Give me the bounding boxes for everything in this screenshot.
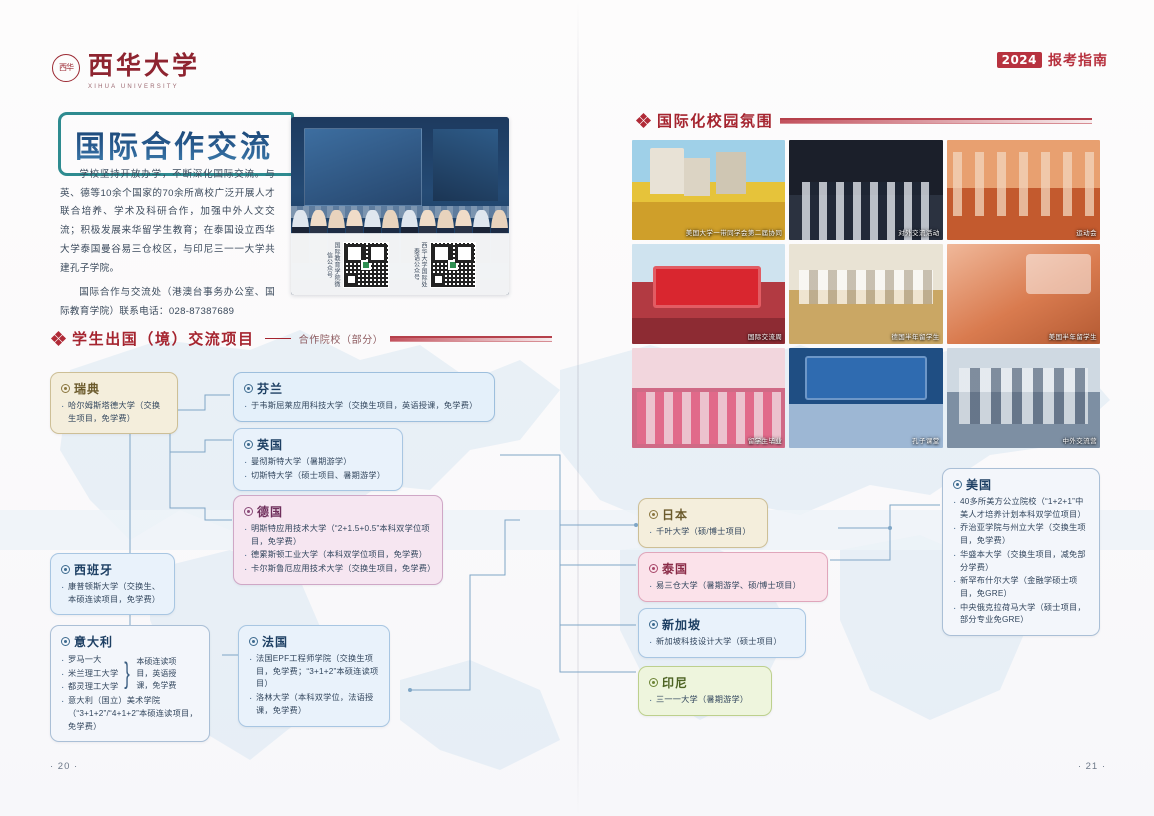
campus-section-title: 国际化校园氛围 — [657, 110, 773, 131]
marker-icon — [61, 637, 70, 646]
program-item: 新罕布什尔大学（金融学硕士项目，免GRE） — [953, 575, 1090, 600]
country-name: 德国 — [257, 503, 283, 520]
program-item: 意大利（国立）美术学院（“3+1+2”/“4+1+2”本硕连读项目，免学费） — [61, 695, 200, 733]
program-item: 卡尔斯鲁厄应用技术大学（交换生项目，免学费） — [244, 563, 433, 576]
photo-cell: 德国半年留学生 — [789, 244, 942, 344]
country-card-usa[interactable]: 美国 40多所美方公立院校（“1+2+1”中美人才培养计划本科双学位项目） 乔治… — [942, 468, 1100, 636]
qr-code-icon[interactable] — [430, 242, 476, 288]
marker-icon — [61, 384, 70, 393]
photo-caption: 中外交流营 — [1062, 435, 1097, 445]
photo-caption: 德国半年留学生 — [891, 331, 939, 341]
program-item: 切斯特大学（硕士项目、暑期游学） — [244, 470, 393, 483]
photo-cell: 对外交流活动 — [789, 140, 942, 240]
program-item: 都灵理工大学 — [61, 681, 118, 694]
page-number-left: · 20 · — [50, 761, 78, 772]
qr-caption: 西华大学国际处泰语公众号 — [411, 242, 426, 288]
program-item: 千叶大学（硕/博士项目） — [649, 526, 758, 539]
programs-section-subtitle: 合作院校（部分） — [299, 331, 384, 346]
logo-name-cn: 西华大学 — [88, 46, 200, 82]
brochure-page: 西华 西华大学 XIHUA UNIVERSITY 2024 报考指南 国际合作交… — [0, 0, 1154, 816]
diamond-cluster-icon — [637, 114, 650, 127]
country-name: 美国 — [966, 476, 992, 493]
section-rule — [780, 118, 1092, 124]
brace-note: 本硕连读项目，英语授课，免学费 — [136, 656, 188, 692]
ceremony-photo: 国际教育学院微信公众号 西华大学国际处泰语公众号 — [291, 117, 509, 295]
photo-caption: 运动会 — [1076, 227, 1097, 237]
country-card-uk[interactable]: 英国 曼彻斯特大学（暑期游学） 切斯特大学（硕士项目、暑期游学） — [233, 428, 403, 491]
badge-year: 2024 — [997, 52, 1042, 68]
title-text: 国际合作交流 — [75, 122, 273, 166]
photo-caption: 国际交流周 — [748, 331, 783, 341]
programs-section-heading: 学生出国（境）交流项目 合作院校（部分） — [52, 328, 552, 349]
country-card-indonesia[interactable]: 印尼 三一一大学（暑期游学） — [638, 666, 772, 716]
marker-icon — [953, 480, 962, 489]
photo-caption: 留学生毕业 — [748, 435, 783, 445]
country-card-italy[interactable]: 意大利 罗马一大 米兰理工大学 都灵理工大学 } 本硕连读项目，英语授课，免学费… — [50, 625, 210, 742]
program-item: 德累斯顿工业大学（本科双学位项目，免学费） — [244, 549, 433, 562]
country-card-france[interactable]: 法国 法国EPF工程师学院（交换生项目，免学费；“3+1+2”本硕连读项目） 洛… — [238, 625, 390, 727]
country-name: 法国 — [262, 633, 288, 650]
program-item: 华盛本大学（交换生项目，减免部分学费） — [953, 549, 1090, 574]
program-item: 易三仓大学（暑期游学、硕/博士项目） — [649, 580, 818, 593]
program-item: 罗马一大 — [61, 654, 118, 667]
university-logo: 西华 西华大学 XIHUA UNIVERSITY — [52, 46, 200, 90]
diamond-cluster-icon — [52, 332, 65, 345]
country-name: 芬兰 — [257, 380, 283, 397]
marker-icon — [649, 620, 658, 629]
marker-icon — [244, 384, 253, 393]
marker-icon — [649, 564, 658, 573]
brace-icon: } — [125, 662, 131, 686]
section-rule — [390, 336, 552, 342]
country-card-spain[interactable]: 西班牙 康普顿斯大学（交换生、本硕连读项目，免学费） — [50, 553, 175, 615]
page-number-right: · 21 · — [1078, 761, 1106, 772]
programs-section-title: 学生出国（境）交流项目 — [72, 328, 255, 349]
marker-icon — [61, 565, 70, 574]
marker-icon — [649, 510, 658, 519]
qr-item: 西华大学国际处泰语公众号 — [411, 242, 476, 288]
campus-section-heading: 国际化校园氛围 — [637, 110, 1092, 131]
country-name: 意大利 — [74, 633, 113, 650]
country-name: 泰国 — [662, 560, 688, 577]
program-item: 40多所美方公立院校（“1+2+1”中美人才培养计划本科双学位项目） — [953, 496, 1090, 521]
photo-cell: 中外交流营 — [947, 348, 1100, 448]
program-item: 康普顿斯大学（交换生、本硕连读项目，免学费） — [61, 581, 165, 606]
program-item: 哈尔姆斯塔德大学（交换生项目，免学费） — [61, 400, 168, 425]
country-card-germany[interactable]: 德国 明斯特应用技术大学（“2+1.5+0.5”本科双学位项目，免学费） 德累斯… — [233, 495, 443, 585]
photo-cell: 国际交流周 — [632, 244, 785, 344]
intro-paragraph-2: 国际合作与交流处（港澳台事务办公室、国际教育学院）联系电话：028-873876… — [60, 284, 275, 321]
country-name: 瑞典 — [74, 380, 100, 397]
photo-cell: 孔子课堂 — [789, 348, 942, 448]
program-item: 中央俄克拉荷马大学（硕士项目，部分专业免GRE） — [953, 602, 1090, 627]
qr-code-bar: 国际教育学院微信公众号 西华大学国际处泰语公众号 — [291, 233, 509, 295]
marker-icon — [244, 507, 253, 516]
country-name: 英国 — [257, 436, 283, 453]
intro-text: 学校坚持开放办学，不断深化国际交流。与英、德等10余个国家的70余所高校广泛开展… — [60, 166, 275, 322]
program-item: 乔治亚学院与州立大学（交换生项目，免学费） — [953, 522, 1090, 547]
intro-paragraph-1: 学校坚持开放办学，不断深化国际交流。与英、德等10余个国家的70余所高校广泛开展… — [60, 166, 275, 278]
marker-icon — [649, 678, 658, 687]
photo-cell: 运动会 — [947, 140, 1100, 240]
heading-dash — [265, 338, 291, 340]
country-name: 新加坡 — [662, 616, 701, 633]
country-card-thailand[interactable]: 泰国 易三仓大学（暑期游学、硕/博士项目） — [638, 552, 828, 602]
qr-code-icon[interactable] — [343, 242, 389, 288]
photo-cell: 留学生毕业 — [632, 348, 785, 448]
country-name: 印尼 — [662, 674, 688, 691]
photo-cell: 美国半年留学生 — [947, 244, 1100, 344]
country-card-japan[interactable]: 日本 千叶大学（硕/博士项目） — [638, 498, 768, 548]
marker-icon — [249, 637, 258, 646]
program-item: 曼彻斯特大学（暑期游学） — [244, 456, 393, 469]
program-item: 三一一大学（暑期游学） — [649, 694, 762, 707]
photo-caption: 孔子课堂 — [912, 435, 940, 445]
country-name: 西班牙 — [74, 561, 113, 578]
page-spine — [577, 0, 579, 816]
guide-badge: 2024 报考指南 — [997, 50, 1108, 70]
photo-caption: 美国大学一带同学会第二届协同 — [686, 227, 783, 237]
program-item: 米兰理工大学 — [61, 668, 118, 681]
campus-photo-grid: 美国大学一带同学会第二届协同 对外交流活动 运动会 国际交流周 德国半年留学生 … — [632, 140, 1100, 448]
photo-cell: 美国大学一带同学会第二届协同 — [632, 140, 785, 240]
photo-caption: 美国半年留学生 — [1049, 331, 1097, 341]
badge-label: 报考指南 — [1048, 50, 1108, 70]
seal-icon: 西华 — [52, 54, 80, 82]
qr-item: 国际教育学院微信公众号 — [324, 242, 389, 288]
marker-icon — [244, 440, 253, 449]
country-card-sweden[interactable]: 瑞典 哈尔姆斯塔德大学（交换生项目，免学费） — [50, 372, 178, 434]
program-item: 洛林大学（本科双学位，法语授课，免学费） — [249, 692, 380, 717]
logo-name-en: XIHUA UNIVERSITY — [88, 84, 200, 90]
country-card-finland[interactable]: 芬兰 于韦斯屈莱应用科技大学（交换生项目，英语授课，免学费） — [233, 372, 495, 422]
program-item: 明斯特应用技术大学（“2+1.5+0.5”本科双学位项目，免学费） — [244, 523, 433, 548]
country-name: 日本 — [662, 506, 688, 523]
photo-caption: 对外交流活动 — [898, 227, 939, 237]
country-card-singapore[interactable]: 新加坡 新加坡科技设计大学（硕士项目） — [638, 608, 806, 658]
qr-caption: 国际教育学院微信公众号 — [324, 242, 339, 288]
program-item: 新加坡科技设计大学（硕士项目） — [649, 636, 796, 649]
program-item: 于韦斯屈莱应用科技大学（交换生项目，英语授课，免学费） — [244, 400, 485, 413]
program-item: 法国EPF工程师学院（交换生项目，免学费；“3+1+2”本硕连读项目） — [249, 653, 380, 691]
